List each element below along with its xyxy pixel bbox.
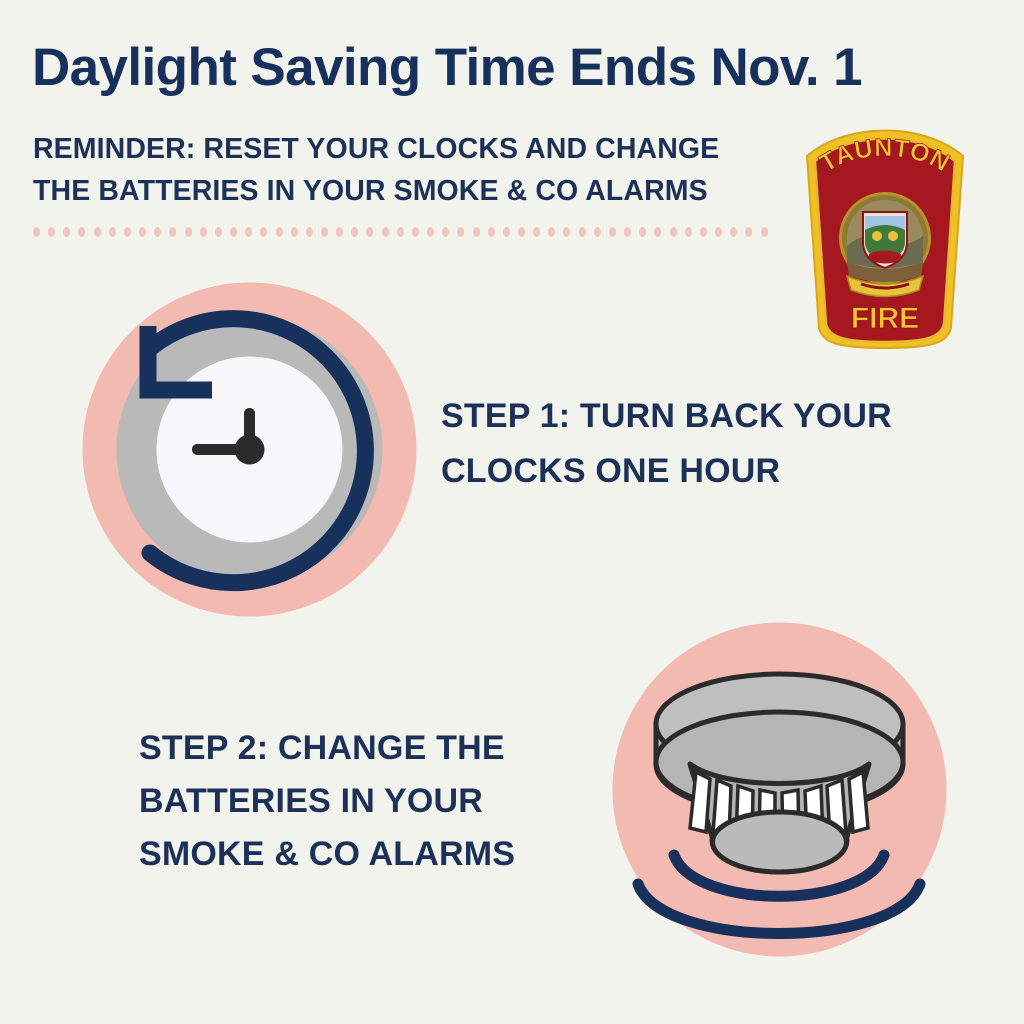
divider-dot <box>351 227 358 237</box>
page-title: Daylight Saving Time Ends Nov. 1 <box>32 38 932 98</box>
divider-dot <box>245 227 252 237</box>
divider-dot <box>169 227 176 237</box>
divider-dot <box>715 227 722 237</box>
step-1-line-1: STEP 1: TURN BACK YOUR <box>441 389 961 444</box>
divider-dot <box>215 227 222 237</box>
divider-dot <box>276 227 283 237</box>
divider-dot <box>185 227 192 237</box>
divider-dot <box>594 227 601 237</box>
divider-dot <box>366 227 373 237</box>
step-2-line-1: STEP 2: CHANGE THE <box>139 722 569 775</box>
divider-dot <box>94 227 101 237</box>
step-1-line-2: CLOCKS ONE HOUR <box>441 444 961 499</box>
divider-dot <box>139 227 146 237</box>
divider-dot <box>473 227 480 237</box>
divider-dot <box>306 227 313 237</box>
taunton-fire-badge-icon: TAUNTON FIRE <box>795 116 975 352</box>
divider-dot <box>639 227 646 237</box>
divider-dot <box>442 227 449 237</box>
divider-dot <box>685 227 692 237</box>
divider-dot <box>321 227 328 237</box>
divider-dot <box>533 227 540 237</box>
step-1-text: STEP 1: TURN BACK YOUR CLOCKS ONE HOUR <box>441 389 961 499</box>
divider-dot <box>33 227 40 237</box>
divider-dot <box>397 227 404 237</box>
divider-dot <box>154 227 161 237</box>
divider-dot <box>700 227 707 237</box>
divider-dot <box>730 227 737 237</box>
subtitle-line-1: REMINDER: RESET YOUR CLOCKS AND CHANGE <box>33 128 793 170</box>
divider-dot <box>670 227 677 237</box>
divider-dot <box>63 227 70 237</box>
divider-dot <box>336 227 343 237</box>
divider-dot <box>109 227 116 237</box>
subtitle-line-2: THE BATTERIES IN YOUR SMOKE & CO ALARMS <box>33 170 793 212</box>
divider-dot <box>488 227 495 237</box>
divider-dot <box>503 227 510 237</box>
divider-dot <box>260 227 267 237</box>
divider-dot <box>624 227 631 237</box>
infographic-page: Daylight Saving Time Ends Nov. 1 REMINDE… <box>0 0 1024 1024</box>
step-2-line-2: BATTERIES IN YOUR <box>139 775 569 828</box>
divider-dot <box>518 227 525 237</box>
divider-dot <box>200 227 207 237</box>
divider-dot <box>579 227 586 237</box>
divider-dot <box>412 227 419 237</box>
divider-dot <box>609 227 616 237</box>
divider-dot <box>548 227 555 237</box>
divider-dot <box>563 227 570 237</box>
divider-dot <box>745 227 752 237</box>
divider-dot <box>230 227 237 237</box>
step-2-text: STEP 2: CHANGE THE BATTERIES IN YOUR SMO… <box>139 722 569 881</box>
divider-dot <box>124 227 131 237</box>
divider-dot <box>78 227 85 237</box>
clock-rewind-icon <box>82 282 417 617</box>
smoke-detector-icon <box>612 622 947 957</box>
divider-dot <box>291 227 298 237</box>
divider-dot <box>427 227 434 237</box>
divider-dot <box>761 227 768 237</box>
divider-dot <box>457 227 464 237</box>
divider-dot <box>48 227 55 237</box>
step-2-line-3: SMOKE & CO ALARMS <box>139 828 569 881</box>
divider-dot <box>382 227 389 237</box>
dotted-divider <box>33 226 768 238</box>
svg-text:FIRE: FIRE <box>851 302 919 335</box>
subtitle-block: REMINDER: RESET YOUR CLOCKS AND CHANGE T… <box>33 128 793 212</box>
divider-dot <box>654 227 661 237</box>
